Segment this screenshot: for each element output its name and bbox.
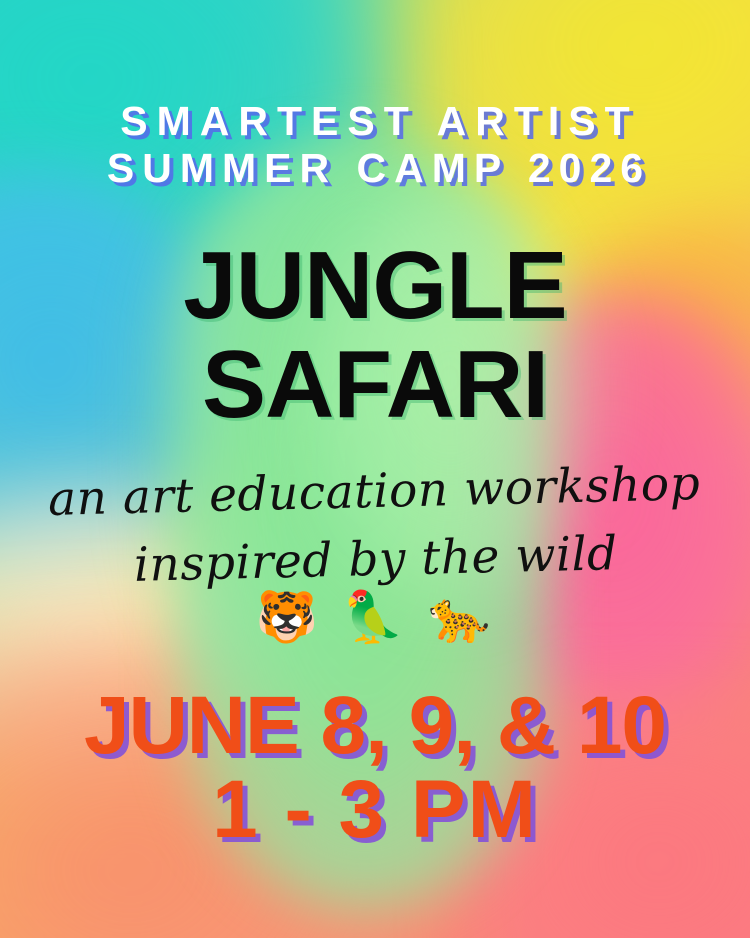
leopard-icon: 🐆 xyxy=(428,588,494,646)
parrot-icon: 🦜 xyxy=(342,588,408,646)
tiger-face-icon: 🐯 xyxy=(256,588,322,646)
headline-line-1: JUNGLE xyxy=(0,236,750,335)
animal-emoji-row: 🐯 🦜 🐆 xyxy=(0,588,750,646)
eyebrow-line-1: SMARTEST ARTIST xyxy=(0,98,750,145)
poster-content: SMARTEST ARTIST SUMMER CAMP 2026 JUNGLE … xyxy=(0,0,750,938)
event-time: 1 - 3 PM xyxy=(0,768,750,852)
event-dates: JUNE 8, 9, & 10 xyxy=(0,684,750,768)
poster-canvas: SMARTEST ARTIST SUMMER CAMP 2026 JUNGLE … xyxy=(0,0,750,938)
tagline: an art education workshop inspired by th… xyxy=(0,449,750,603)
camp-name-eyebrow: SMARTEST ARTIST SUMMER CAMP 2026 xyxy=(0,98,750,192)
page-title: JUNGLE SAFARI xyxy=(0,236,750,434)
headline-line-2: SAFARI xyxy=(0,335,750,434)
event-datetime: JUNE 8, 9, & 10 1 - 3 PM xyxy=(0,684,750,852)
eyebrow-line-2: SUMMER CAMP 2026 xyxy=(0,145,750,192)
